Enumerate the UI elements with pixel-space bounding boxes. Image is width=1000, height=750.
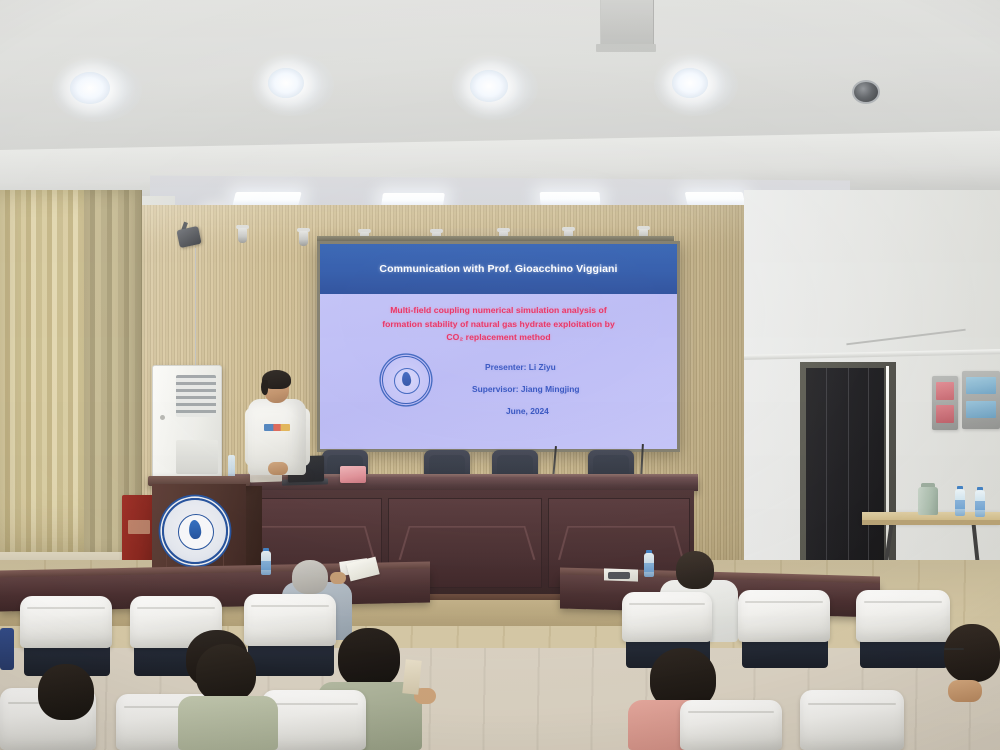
- notice-card-blue-2: [966, 401, 996, 418]
- seat-headrest-cover-5: [738, 590, 830, 642]
- slide-title-line-2: formation stability of natural gas hydra…: [326, 318, 671, 332]
- open-doorway[interactable]: [806, 368, 884, 574]
- lecture-hall-photo: Communication with Prof. Gioacchino Vigg…: [0, 0, 1000, 750]
- thermos-flask: [918, 487, 938, 515]
- audience-glasses-4: [944, 648, 964, 650]
- presenter-hair-side: [261, 380, 268, 395]
- slide-body: Multi-field coupling numerical simulatio…: [320, 294, 677, 449]
- ceiling-downlight-icon-1: [70, 72, 110, 104]
- notice-card-red-1: [936, 382, 954, 400]
- slide-date-text: June, 2024: [506, 406, 549, 416]
- projector-mount-panel: [600, 0, 654, 48]
- audience-head-7: [38, 664, 94, 720]
- seat-headrest-cover-3: [244, 594, 336, 646]
- seat-headrest-cover-10: [680, 700, 782, 750]
- led-panel-light-1: [232, 192, 301, 206]
- slide-header-bar: Communication with Prof. Gioacchino Vigg…: [320, 244, 677, 294]
- presenter-shirt-graphic: [264, 424, 290, 431]
- fire-box-label: [128, 520, 150, 534]
- desk-phone: [608, 572, 630, 579]
- university-seal-icon: [382, 356, 430, 404]
- audience-hand-4: [948, 680, 982, 702]
- projection-screen: Communication with Prof. Gioacchino Vigg…: [317, 241, 680, 452]
- slide-title-line-3: CO₂ replacement method: [326, 331, 671, 345]
- audience-torso-8: [178, 696, 278, 750]
- slide-title-line-1: Multi-field coupling numerical simulatio…: [326, 304, 671, 318]
- audience-head-2: [338, 628, 400, 688]
- podium-water-bottle: [228, 455, 235, 477]
- projected-slide: Communication with Prof. Gioacchino Vigg…: [320, 244, 677, 449]
- notice-board-right: [962, 371, 1000, 429]
- air-conditioner-indicator: [160, 415, 165, 420]
- air-conditioner-vent: [176, 375, 216, 417]
- desk-water-bottle-2: [644, 553, 654, 577]
- slide-supervisor-text: Supervisor: Jiang Mingjing: [472, 384, 580, 394]
- audience-head-8: [196, 644, 256, 702]
- side-table-edge: [862, 520, 1000, 525]
- seat-headrest-cover-1: [20, 596, 112, 648]
- water-bottle-1: [955, 489, 965, 516]
- notice-card-blue-1: [966, 377, 996, 394]
- water-bottle-2: [975, 490, 985, 517]
- podium-university-seal-icon: [162, 498, 228, 564]
- speaker-wire: [195, 248, 196, 366]
- presenter-hands: [268, 462, 288, 475]
- slide-title-block: Multi-field coupling numerical simulatio…: [326, 304, 671, 345]
- ceiling-downlight-icon-4: [672, 68, 708, 98]
- audience-head-5: [676, 551, 714, 589]
- ceiling-downlight-icon-2: [268, 68, 304, 98]
- notice-board-left: [932, 376, 958, 430]
- slide-presenter-text: Presenter: Li Ziyu: [485, 362, 556, 372]
- notice-card-red-2: [936, 405, 954, 423]
- seat-headrest-cover-6: [856, 590, 950, 642]
- audience-hand-5: [330, 572, 346, 584]
- slide-header-text: Communication with Prof. Gioacchino Vigg…: [379, 263, 617, 275]
- seat-headrest-cover-4: [622, 592, 712, 642]
- projector-mount-bracket: [596, 44, 656, 52]
- audience-head-4: [944, 624, 1000, 682]
- led-panel-light-4: [685, 192, 746, 205]
- air-conditioner-panel: [176, 440, 218, 474]
- track-spotlight-icon-1: [238, 228, 247, 243]
- audience-head-6: [292, 560, 328, 594]
- desk-water-bottle-1: [261, 551, 271, 575]
- seat-armrest-1: [0, 628, 14, 670]
- track-spotlight-icon-2: [299, 231, 308, 246]
- ceiling-downlight-icon-3: [470, 70, 508, 102]
- pink-box-item: [340, 466, 366, 483]
- led-panel-light-3: [540, 192, 601, 205]
- ceiling-speaker-icon: [852, 80, 880, 104]
- seat-headrest-cover-11: [800, 690, 904, 750]
